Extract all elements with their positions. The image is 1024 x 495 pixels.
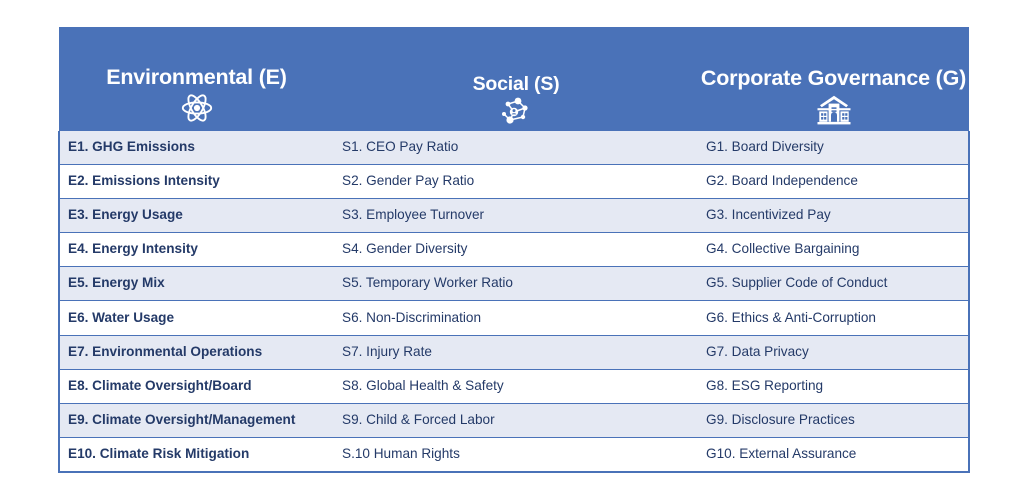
column-header-environmental-label: Environmental (E)	[106, 66, 287, 89]
cell-social: S3. Employee Turnover	[334, 199, 698, 233]
table-header-row: Environmental (E)	[59, 27, 969, 131]
cell-environmental: E5. Energy Mix	[59, 267, 334, 301]
table-row: E4. Energy IntensityS4. Gender Diversity…	[59, 233, 969, 267]
cell-environmental: E2. Emissions Intensity	[59, 165, 334, 199]
cell-environmental: E1. GHG Emissions	[59, 131, 334, 165]
column-header-governance: Corporate Governance (G)	[698, 27, 969, 131]
table-row: E5. Energy MixS5. Temporary Worker Ratio…	[59, 267, 969, 301]
table-row: E8. Climate Oversight/BoardS8. Global He…	[59, 369, 969, 403]
cell-governance: G8. ESG Reporting	[698, 369, 969, 403]
table-body: E1. GHG EmissionsS1. CEO Pay RatioG1. Bo…	[59, 131, 969, 472]
cell-social: S7. Injury Rate	[334, 335, 698, 369]
column-header-environmental: Environmental (E)	[59, 27, 334, 131]
cell-social: S6. Non-Discrimination	[334, 301, 698, 335]
cell-governance: G3. Incentivized Pay	[698, 199, 969, 233]
column-header-social: Social (S)	[334, 27, 698, 131]
cell-environmental: E7. Environmental Operations	[59, 335, 334, 369]
cell-governance: G5. Supplier Code of Conduct	[698, 267, 969, 301]
esg-metrics-page: Environmental (E)	[0, 0, 1024, 495]
table-row: E7. Environmental OperationsS7. Injury R…	[59, 335, 969, 369]
cell-governance: G1. Board Diversity	[698, 131, 969, 165]
column-header-social-label: Social (S)	[473, 74, 560, 94]
cell-governance: G6. Ethics & Anti-Corruption	[698, 301, 969, 335]
table-row: E6. Water UsageS6. Non-DiscriminationG6.…	[59, 301, 969, 335]
cell-social: S5. Temporary Worker Ratio	[334, 267, 698, 301]
cell-governance: G7. Data Privacy	[698, 335, 969, 369]
cell-social: S4. Gender Diversity	[334, 233, 698, 267]
cell-governance: G9. Disclosure Practices	[698, 403, 969, 437]
table-row: E2. Emissions IntensityS2. Gender Pay Ra…	[59, 165, 969, 199]
cell-social: S2. Gender Pay Ratio	[334, 165, 698, 199]
cell-environmental: E3. Energy Usage	[59, 199, 334, 233]
cell-environmental: E9. Climate Oversight/Management	[59, 403, 334, 437]
cell-environmental: E4. Energy Intensity	[59, 233, 334, 267]
cell-environmental: E8. Climate Oversight/Board	[59, 369, 334, 403]
cell-governance: G10. External Assurance	[698, 437, 969, 472]
table-row: E3. Energy UsageS3. Employee TurnoverG3.…	[59, 199, 969, 233]
table-row: E9. Climate Oversight/ManagementS9. Chil…	[59, 403, 969, 437]
cell-governance: G4. Collective Bargaining	[698, 233, 969, 267]
cell-social: S.10 Human Rights	[334, 437, 698, 472]
esg-metrics-table: Environmental (E)	[58, 27, 970, 473]
cell-governance: G2. Board Independence	[698, 165, 969, 199]
cell-social: S8. Global Health & Safety	[334, 369, 698, 403]
network-people-icon	[499, 95, 533, 127]
atom-icon	[180, 91, 214, 125]
cell-social: S1. CEO Pay Ratio	[334, 131, 698, 165]
cell-environmental: E6. Water Usage	[59, 301, 334, 335]
cell-environmental: E10. Climate Risk Mitigation	[59, 437, 334, 472]
table-row: E1. GHG EmissionsS1. CEO Pay RatioG1. Bo…	[59, 131, 969, 165]
table-header: Environmental (E)	[59, 27, 969, 131]
column-header-governance-label: Corporate Governance (G)	[701, 67, 966, 90]
table-row: E10. Climate Risk MitigationS.10 Human R…	[59, 437, 969, 472]
institution-building-icon	[815, 95, 853, 125]
cell-social: S9. Child & Forced Labor	[334, 403, 698, 437]
